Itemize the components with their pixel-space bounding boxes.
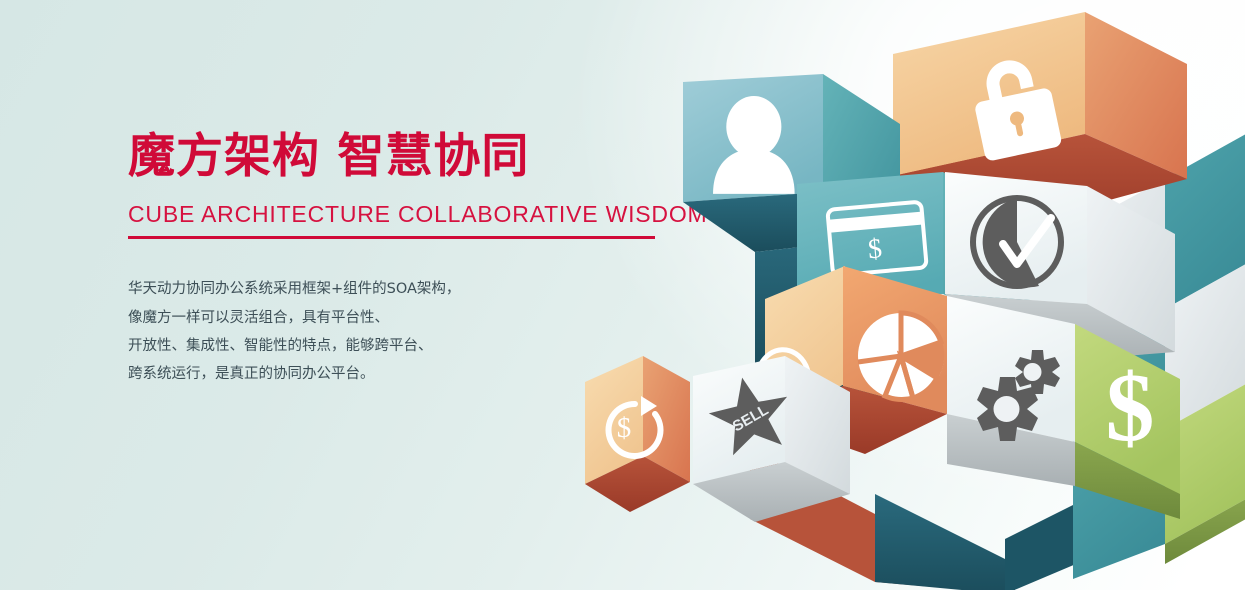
svg-text:$: $ [1106,354,1155,462]
svg-text:$: $ [617,412,632,444]
cube-face-teal-dark [875,494,1005,590]
cube-gears [947,296,1075,486]
exploded-cube-illustration: $ [575,0,1245,590]
cube-sell-star: SELL [693,356,850,522]
svg-text:$: $ [867,233,884,265]
hero-banner: 魔方架构 智慧协同 CUBE ARCHITECTURE COLLABORATIV… [0,0,1245,590]
cube-refresh-dollar: $ [585,356,690,512]
pie-chart-icon [858,313,944,399]
dollar-sign-icon: $ [1106,354,1155,462]
